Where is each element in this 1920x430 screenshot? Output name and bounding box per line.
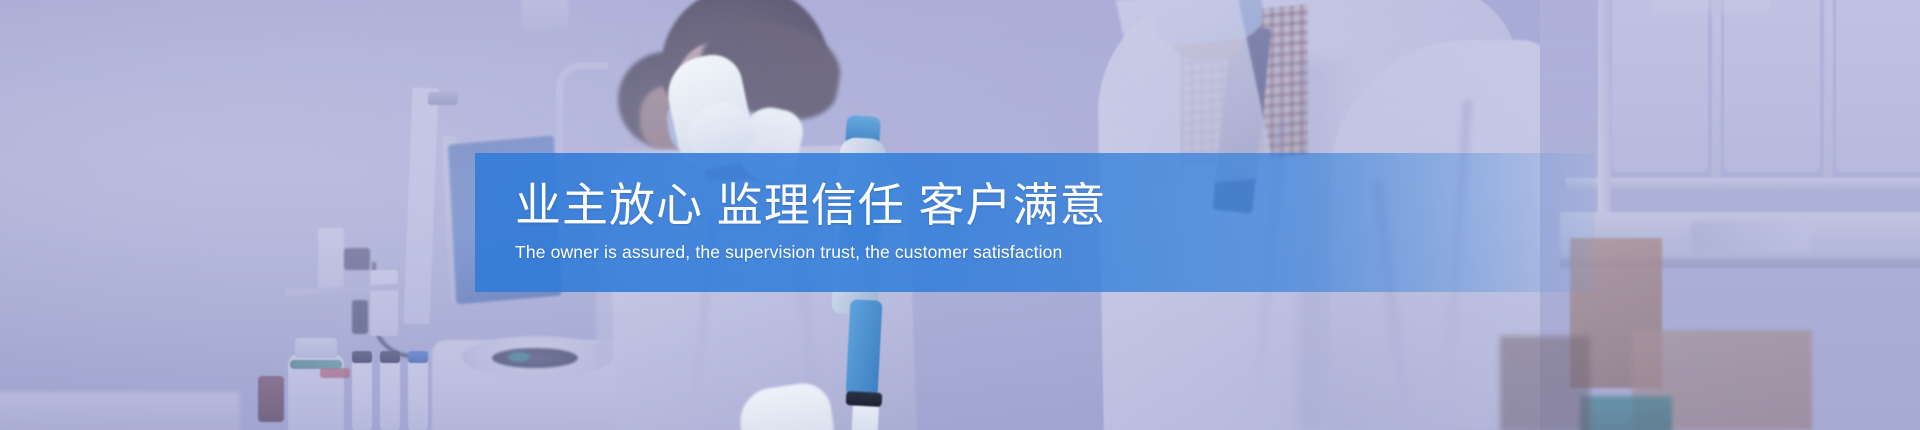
pipette-tip bbox=[851, 403, 879, 430]
pipette-shaft bbox=[846, 299, 883, 397]
slogan-band: 业主放心 监理信任 客户满意 The owner is assured, the… bbox=[475, 153, 1595, 292]
slogan-headline: 业主放心 监理信任 客户满意 bbox=[515, 181, 1595, 230]
slogan-subline: The owner is assured, the supervision tr… bbox=[515, 241, 1595, 264]
slogan-text-block: 业主放心 监理信任 客户满意 The owner is assured, the… bbox=[515, 153, 1595, 292]
pipette-collar bbox=[846, 391, 883, 407]
hero-banner: 业主放心 监理信任 客户满意 The owner is assured, the… bbox=[0, 0, 1920, 430]
